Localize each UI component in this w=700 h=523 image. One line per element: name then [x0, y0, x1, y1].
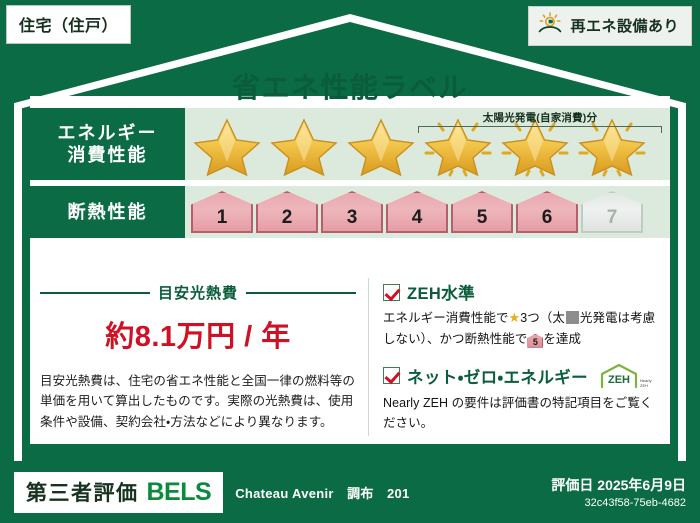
insulation-grade-3: 3 — [321, 191, 383, 233]
star-icon — [189, 115, 265, 177]
solar-annotation: 太陽光発電(自家消費)分 — [418, 110, 662, 133]
zeh-standard-description: エネルギー消費性能で★3つ（太光発電は考慮しない）、かつ断熱性能で5を達成 — [383, 308, 660, 349]
bels-en-label: BELS — [147, 478, 212, 507]
energy-performance-label-line1: エネルギー — [58, 122, 158, 145]
bels-jp-label: 第三者評価 — [26, 477, 139, 507]
checkbox-checked-icon — [383, 367, 400, 384]
energy-performance-label: エネルギー 消費性能 — [30, 108, 185, 180]
sun-icon — [537, 12, 563, 39]
utility-cost-value: 約8.1万円 / 年 — [40, 313, 356, 355]
title-block: 建築物省エネ法に基づく 省エネ性能ラベル — [0, 44, 700, 106]
zeh-standard-block: ZEH水準 エネルギー消費性能で★3つ（太光発電は考慮しない）、かつ断熱性能で5… — [383, 280, 660, 349]
insulation-performance-label: 断熱性能 — [30, 186, 185, 238]
renewable-equipment-badge: 再エネ設備あり — [528, 6, 692, 46]
utility-cost-heading-label: 目安光熱費 — [158, 282, 238, 303]
zeh-desc-part4: を達成 — [543, 332, 581, 346]
insulation-grade-4: 4 — [386, 191, 448, 233]
insulation-performance-row: 断熱性能 1 2 3 4 5 6 7 — [30, 186, 670, 238]
net-zero-description: Nearly ZEH の要件は評価書の特記項目をご覧ください。 — [383, 393, 660, 433]
energy-performance-label-line2: 消費性能 — [68, 144, 148, 167]
insulation-grade-scale: 1 2 3 4 5 6 7 — [185, 191, 643, 233]
solar-bracket — [418, 126, 662, 133]
utility-cost-note: 目安光熱費は、住宅の省エネ性能と全国一律の燃料等の単価を用いて算出したものです。… — [40, 371, 356, 432]
zeh-logo-icon: ZEH Nearly ZEH — [599, 363, 656, 389]
insulation-grade-5: 5 — [451, 191, 513, 233]
energy-performance-row: エネルギー 消費性能 太陽光発電(自家消費)分 — [30, 108, 670, 180]
zeh-desc-part2: 3つ（太 — [520, 311, 565, 325]
lower-section: 目安光熱費 約8.1万円 / 年 目安光熱費は、住宅の省エネ性能と全国一律の燃料… — [30, 272, 670, 444]
redaction-block — [566, 311, 579, 324]
evaluation-id: 32c43f58-75eb-4682 — [551, 497, 686, 509]
utility-cost-panel: 目安光熱費 約8.1万円 / 年 目安光熱費は、住宅の省エネ性能と全国一律の燃料… — [30, 272, 368, 444]
renewable-equipment-label: 再エネ設備あり — [570, 15, 679, 36]
solar-annotation-label: 太陽光発電(自家消費)分 — [418, 110, 662, 125]
utility-cost-heading: 目安光熱費 — [40, 282, 356, 303]
insulation-grade-6: 6 — [516, 191, 578, 233]
certification-panel: ZEH水準 エネルギー消費性能で★3つ（太光発電は考慮しない）、かつ断熱性能で5… — [369, 272, 670, 444]
zeh-desc-part1: エネルギー消費性能で — [383, 311, 509, 325]
zeh-standard-title: ZEH水準 — [407, 280, 475, 304]
inline-grade-badge: 5 — [527, 334, 543, 348]
housing-type-tag: 住宅（住戸） — [6, 5, 131, 44]
inline-star-icon: ★ — [509, 310, 521, 325]
insulation-grade-1: 1 — [191, 191, 253, 233]
footer: 第三者評価 BELS Chateau Avenir 調布 201 評価日 202… — [0, 461, 700, 523]
net-zero-heading: ネット・ゼロ・エネルギー ZEH Nearly ZEH — [383, 363, 660, 389]
energy-performance-body: 太陽光発電(自家消費)分 — [185, 108, 670, 180]
star-icon — [266, 115, 342, 177]
energy-label-root: 住宅（住戸） 再エネ設備あり 建築物省エネ法に基づく 省エネ性能ラベル — [0, 0, 700, 523]
evaluation-info: 評価日 2025年6月9日 32c43f58-75eb-4682 — [551, 475, 686, 509]
bels-logo: 第三者評価 BELS — [14, 472, 223, 513]
net-zero-energy-block: ネット・ゼロ・エネルギー ZEH Nearly ZEH Nearly ZEH の… — [383, 363, 660, 433]
star-icon — [343, 115, 419, 177]
building-name: Chateau Avenir 調布 201 — [235, 483, 409, 502]
evaluation-date: 評価日 2025年6月9日 — [551, 475, 686, 495]
net-zero-title: ネット・ゼロ・エネルギー — [407, 364, 588, 388]
heading-rule-right — [246, 292, 356, 294]
heading-rule-left — [40, 292, 150, 294]
svg-text:ZEH: ZEH — [640, 383, 648, 388]
insulation-grade-2: 2 — [256, 191, 318, 233]
checkbox-checked-icon — [383, 284, 400, 301]
zeh-standard-heading: ZEH水準 — [383, 280, 660, 304]
insulation-grade-7: 7 — [581, 191, 643, 233]
svg-text:ZEH: ZEH — [608, 374, 630, 386]
title-subtitle: 建築物省エネ法に基づく — [0, 44, 700, 64]
page-title: 省エネ性能ラベル — [0, 66, 700, 106]
insulation-performance-body: 1 2 3 4 5 6 7 — [185, 186, 670, 238]
rating-rows: エネルギー 消費性能 太陽光発電(自家消費)分 — [30, 108, 670, 244]
